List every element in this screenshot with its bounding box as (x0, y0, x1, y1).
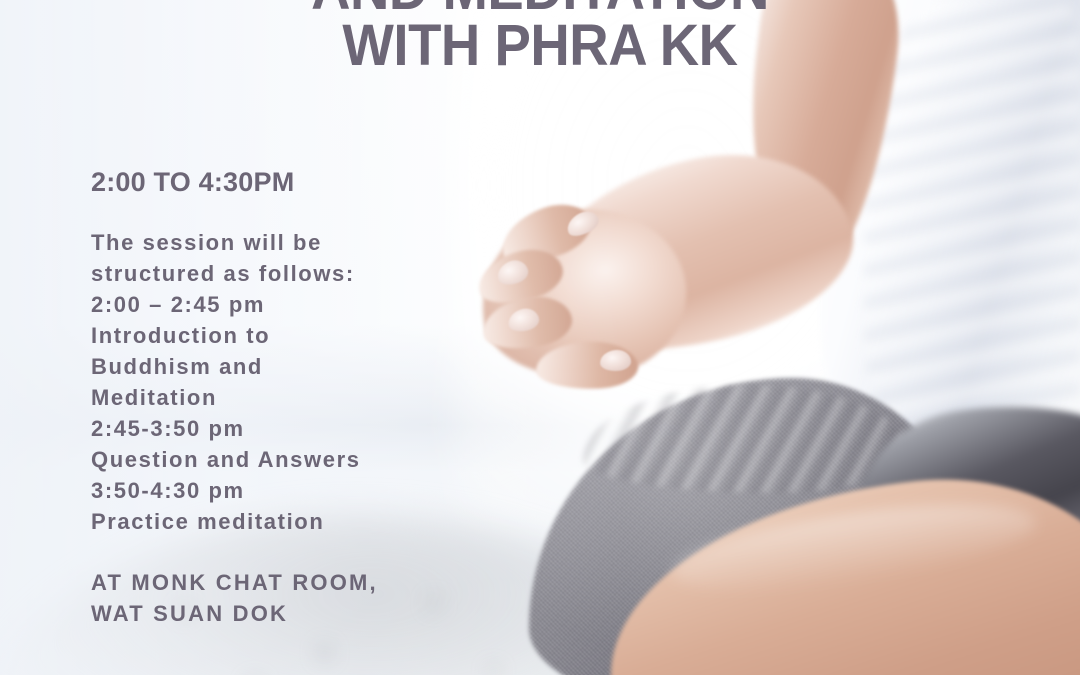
venue-text: AT MONK CHAT ROOM, WAT SUAN DOK (91, 567, 378, 629)
meditation-event-poster: AND MEDITATION WITH PHRA KK 2:00 TO 4:30… (0, 0, 1080, 675)
session-schedule-text: The session will be structured as follow… (91, 227, 361, 537)
page-title: AND MEDITATION WITH PHRA KK (32, 0, 1047, 74)
event-time-heading: 2:00 TO 4:30PM (91, 167, 294, 198)
